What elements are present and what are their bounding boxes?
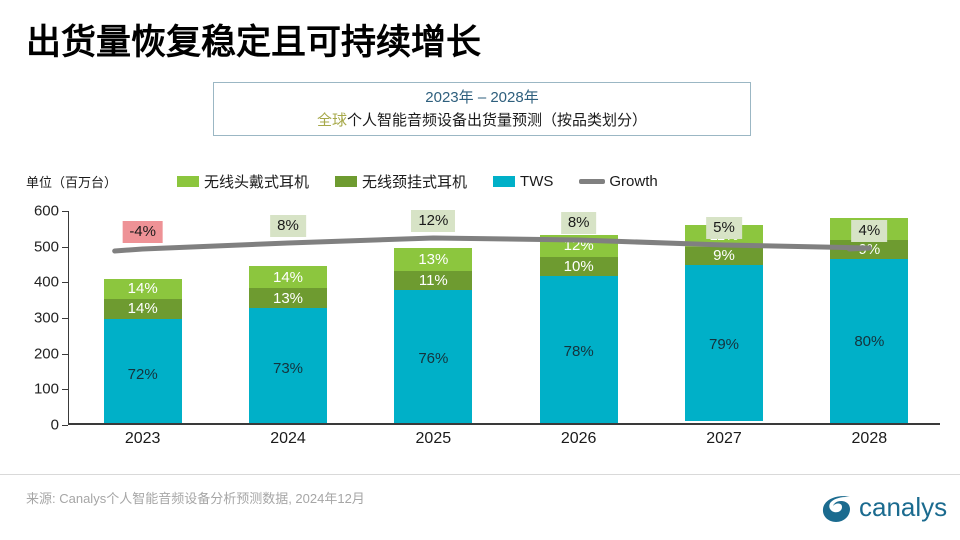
bar-group[interactable]: 11%9%79%	[685, 225, 763, 423]
legend-item-growth[interactable]: Growth	[579, 173, 657, 190]
legend-swatch-wireless-headphones	[177, 176, 199, 187]
y-tick-mark	[62, 211, 68, 212]
bar-segment-neckband[interactable]: 10%	[540, 257, 618, 276]
subtitle-period: 2023年 – 2028年	[214, 87, 750, 109]
legend-item-wireless-headphones[interactable]: 无线头戴式耳机	[177, 171, 309, 192]
y-axis-line	[68, 211, 69, 425]
x-axis-label: 2028	[852, 430, 888, 448]
x-axis-label: 2023	[125, 430, 161, 448]
bar-segment-label: 14%	[128, 281, 158, 296]
page-title: 出货量恢复稳定且可持续增长	[26, 14, 481, 65]
bar-segment-label: 14%	[128, 301, 158, 316]
growth-badge: 8%	[270, 215, 306, 237]
bar-segment-neckband[interactable]: 13%	[249, 288, 327, 308]
subtitle-highlight: 全球	[317, 112, 347, 129]
y-tick-mark	[62, 425, 68, 426]
bar-segment-wireless-headphones[interactable]: 14%	[104, 279, 182, 299]
bar-segment-label: 10%	[564, 259, 594, 274]
bar-group[interactable]: 12%10%78%	[540, 235, 618, 423]
bar-segment-label: 12%	[564, 238, 594, 253]
legend-label-wireless-headphones: 无线头戴式耳机	[204, 171, 309, 192]
x-axis-label: 2024	[270, 430, 306, 448]
bar-segment-label: 9%	[713, 248, 735, 263]
subtitle-description: 全球个人智能音频设备出货量预测（按品类划分）	[214, 109, 750, 132]
growth-badge: 5%	[706, 217, 742, 239]
bar-group[interactable]: 11%9%80%	[830, 218, 908, 423]
chart-plot-area: 0100200300400500600 14%14%72%14%13%73%13…	[68, 211, 940, 425]
y-tick-mark	[62, 389, 68, 390]
bar-segment-label: 72%	[128, 367, 158, 382]
legend-line-growth	[579, 179, 605, 184]
footer-divider	[0, 474, 960, 475]
growth-badge: 8%	[561, 212, 597, 234]
y-tick-label: 100	[34, 381, 59, 398]
bar-segment-wireless-headphones[interactable]: 14%	[249, 266, 327, 288]
y-tick-mark	[62, 247, 68, 248]
bar-segment-label: 78%	[564, 344, 594, 359]
y-tick-label: 600	[34, 203, 59, 220]
growth-badge: -4%	[122, 221, 163, 243]
bar-segment-label: 79%	[709, 337, 739, 352]
x-axis-label: 2027	[706, 430, 742, 448]
legend-label-growth: Growth	[609, 173, 657, 190]
bar-segment-label: 76%	[418, 351, 448, 366]
y-tick-label: 400	[34, 274, 59, 291]
bar-segment-label: 9%	[858, 242, 880, 257]
bar-segment-label: 13%	[418, 252, 448, 267]
y-tick-label: 300	[34, 310, 59, 327]
y-tick-label: 500	[34, 238, 59, 255]
x-axis-label: 2025	[416, 430, 452, 448]
canalys-logo: canalys	[820, 492, 947, 523]
bar-segment-label: 73%	[273, 361, 303, 376]
growth-badge: 4%	[851, 220, 887, 242]
y-tick-mark	[62, 318, 68, 319]
legend-swatch-tws	[493, 176, 515, 187]
bar-segment-tws[interactable]: 73%	[249, 308, 327, 423]
subtitle-box: 2023年 – 2028年 全球个人智能音频设备出货量预测（按品类划分）	[213, 82, 751, 136]
x-axis-label: 2026	[561, 430, 597, 448]
bar-segment-tws[interactable]: 76%	[394, 290, 472, 423]
y-tick-mark	[62, 282, 68, 283]
chart-legend: 单位（百万台） 无线头戴式耳机 无线颈挂式耳机 TWS Growth	[26, 170, 786, 192]
legend-label-tws: TWS	[520, 173, 553, 190]
slide-root: 出货量恢复稳定且可持续增长 2023年 – 2028年 全球个人智能音频设备出货…	[0, 0, 960, 540]
bar-segment-tws[interactable]: 72%	[104, 319, 182, 423]
bar-group[interactable]: 14%13%73%	[249, 266, 327, 423]
legend-item-tws[interactable]: TWS	[493, 173, 553, 190]
bar-segment-wireless-headphones[interactable]: 13%	[394, 248, 472, 271]
growth-badge: 12%	[411, 210, 455, 232]
bar-segment-neckband[interactable]: 9%	[830, 240, 908, 258]
bar-segment-label: 11%	[419, 273, 448, 288]
y-tick-label: 200	[34, 345, 59, 362]
bar-segment-label: 13%	[273, 291, 303, 306]
bar-segment-neckband[interactable]: 14%	[104, 299, 182, 319]
bar-segment-label: 14%	[273, 270, 303, 285]
bar-segment-label: 80%	[854, 334, 884, 349]
source-note: 来源: Canalys个人智能音频设备分析预测数据, 2024年12月	[26, 488, 365, 507]
y-tick-label: 0	[51, 417, 59, 434]
bar-segment-tws[interactable]: 79%	[685, 265, 763, 421]
legend-swatch-neckband	[335, 176, 357, 187]
canalys-mark-icon	[820, 493, 854, 523]
y-tick-mark	[62, 354, 68, 355]
bar-group[interactable]: 13%11%76%	[394, 248, 472, 423]
bar-segment-neckband[interactable]: 11%	[394, 271, 472, 290]
x-axis-line	[68, 423, 940, 425]
bar-segment-tws[interactable]: 78%	[540, 276, 618, 423]
legend-label-neckband: 无线颈挂式耳机	[362, 171, 467, 192]
bar-segment-tws[interactable]: 80%	[830, 259, 908, 423]
subtitle-rest: 个人智能音频设备出货量预测（按品类划分）	[347, 112, 647, 129]
bar-group[interactable]: 14%14%72%	[104, 279, 182, 423]
unit-label: 单位（百万台）	[26, 172, 117, 191]
canalys-logo-text: canalys	[859, 492, 947, 523]
legend-item-neckband[interactable]: 无线颈挂式耳机	[335, 171, 467, 192]
bar-segment-neckband[interactable]: 9%	[685, 247, 763, 265]
bar-segment-wireless-headphones[interactable]: 12%	[540, 235, 618, 258]
